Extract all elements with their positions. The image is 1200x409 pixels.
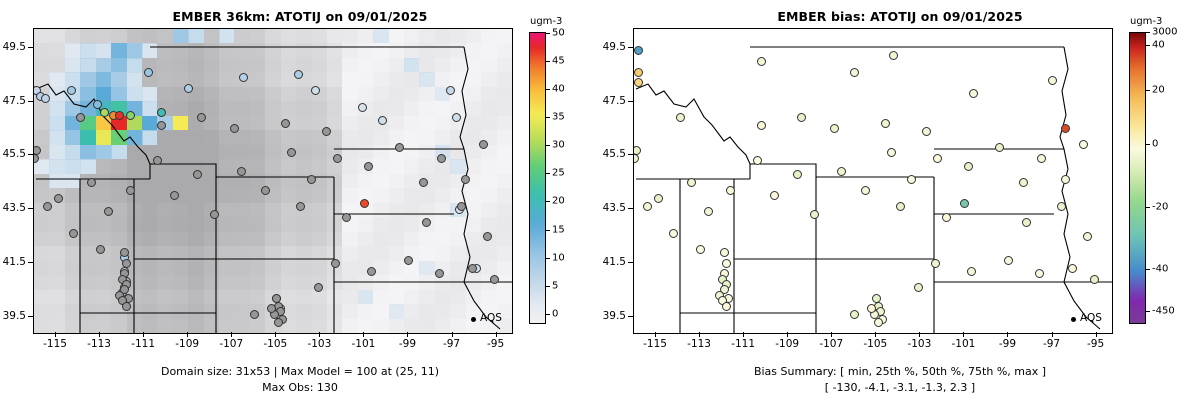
colorbar-tick-label: 0 [552,308,558,319]
observation-point [419,178,428,187]
colorbar-tick-label: 30 [552,140,565,151]
y-tick [628,154,633,155]
colorbar-tick [546,258,550,259]
observation-point [797,113,806,122]
colorbar-tick-label: 20 [552,196,565,207]
observation-point [654,194,663,203]
y-tick-label: 39.5 [3,310,26,322]
colorbar-units-model: ugm-3 [530,16,562,27]
x-tick-label: -97 [443,338,460,350]
observation-point [104,207,113,216]
colorbar-gradient [529,32,546,324]
x-tick-label: -95 [487,338,504,350]
observation-point [881,119,890,128]
observation-point [643,202,652,211]
y-tick [628,47,633,48]
x-tick [363,332,364,337]
colorbar-tick-label: 50 [552,28,565,39]
y-tick-label: 39.5 [603,310,626,322]
aqs-legend-marker-model [471,317,476,322]
observation-point [960,199,969,208]
observation-point [378,116,387,125]
observation-point [435,269,444,278]
x-tick [407,332,408,337]
observation-point [969,89,978,98]
x-tick-label: -103 [307,338,331,350]
caption-bias-line2: [ -130, -4.1, -3.1, -1.3, 2.3 ] [600,381,1200,394]
observation-point [757,121,766,130]
observation-point [157,108,166,117]
aqs-legend-label-model: AQS [480,312,502,324]
observation-point [907,175,916,184]
colorbar-tick-label: 20 [1152,85,1165,96]
x-tick [787,332,788,337]
colorbar-tick [546,89,550,90]
colorbar-tick [546,61,550,62]
x-tick [655,332,656,337]
observation-point [261,186,270,195]
observation-point [1061,124,1070,133]
colorbar-bias: ugm-3 300040200-20-40-450 [1124,28,1200,332]
colorbar-tick-label: -40 [1152,263,1168,274]
y-tick-label: 49.5 [3,41,26,53]
observation-point [483,232,492,241]
colorbar-tick [1146,269,1150,270]
observation-point [676,113,685,122]
observation-point [144,68,153,77]
observation-point [896,202,905,211]
observation-point [874,318,883,327]
observation-point [193,170,202,179]
panel-model: EMBER 36km: ATOTIJ on 09/01/2025 [0,0,600,409]
colorbar-tick [546,173,550,174]
y-tick-label: 47.5 [603,95,626,107]
observation-point [887,148,896,157]
y-tick-label: 41.5 [3,256,26,268]
observation-point [810,210,819,219]
colorbar-tick-label: 35 [552,112,565,123]
observation-point [704,207,713,216]
x-tick [919,332,920,337]
x-tick [1052,332,1053,337]
colorbar-tick-label: -450 [1152,305,1175,316]
observation-point [43,202,52,211]
observation-point [33,154,39,163]
observation-point [1090,275,1099,284]
y-tick-label: 43.5 [3,202,26,214]
panel-title-bias: EMBER bias: ATOTIJ on 09/01/2025 [600,9,1200,24]
x-tick [319,332,320,337]
observation-point [1048,76,1057,85]
observation-point [184,84,193,93]
observation-point [850,68,859,77]
y-tick-label: 49.5 [603,41,626,53]
observation-point [490,275,499,284]
x-tick-label: -95 [1087,338,1104,350]
x-tick-label: -111 [131,338,155,350]
colorbar-tick-label: 15 [552,224,565,235]
observation-point [331,259,340,268]
observation-point [1079,140,1088,149]
y-tick [28,101,33,102]
observation-point [314,283,323,292]
y-tick [628,101,633,102]
caption-bias-line1: Bias Summary: [ min, 25th %, 50th %, 75t… [600,365,1200,378]
x-tick-label: -107 [819,338,843,350]
observation-point [1083,232,1092,241]
observation-point [322,127,331,136]
observation-point [1019,178,1028,187]
observation-point [722,302,731,311]
map-plot-bias: AQS [633,28,1113,334]
observation-point [1037,154,1046,163]
colorbar-tick [546,33,550,34]
x-tick-label: -113 [87,338,111,350]
aqs-legend-marker-bias [1071,317,1076,322]
x-tick [452,332,453,337]
observation-point [837,167,846,176]
colorbar-units-bias: ugm-3 [1130,16,1162,27]
y-tick-label: 41.5 [603,256,626,268]
observation-point [250,310,259,319]
y-tick-label: 45.5 [3,148,26,160]
colorbar-tick [546,230,550,231]
colorbar-tick [1146,207,1150,208]
observation-point [933,154,942,163]
colorbar-tick [1146,90,1150,91]
observation-point [687,178,696,187]
colorbar-tick-label: 0 [1152,139,1158,150]
observation-point [437,154,446,163]
colorbar-tick-label: 10 [552,252,565,263]
y-tick [28,154,33,155]
observation-point [122,302,131,311]
caption-model-line1: Domain size: 31x53 | Max Model = 100 at … [0,365,600,378]
y-tick-label: 47.5 [3,95,26,107]
x-tick [496,332,497,337]
colorbar-tick [1146,45,1150,46]
observation-point [446,86,455,95]
observation-point [669,229,678,238]
colorbar-tick [1146,144,1150,145]
observation-point [100,108,109,117]
map-plot-model: AQS [33,28,513,334]
observation-point [468,264,477,273]
observation-point [239,73,248,82]
observation-point [157,121,166,130]
observation-point [1057,202,1066,211]
observation-point [358,103,367,112]
observation-point [967,267,976,276]
colorbar-tick [546,314,550,315]
y-tick [628,208,633,209]
observation-point [770,191,779,200]
colorbar-tick-label: 40 [1152,40,1165,51]
x-tick-label: -97 [1043,338,1060,350]
observation-point [230,124,239,133]
observation-point [634,68,643,77]
observation-point [1004,256,1013,265]
observation-point [93,100,102,109]
observation-point [404,256,413,265]
colorbar-tick [1146,32,1150,33]
observation-point [964,162,973,171]
observation-point [287,148,296,157]
observation-point [153,156,162,165]
colorbar-tick-label: -20 [1152,202,1168,213]
observation-point [861,186,870,195]
observation-point [634,46,643,55]
x-tick-label: -109 [175,338,199,350]
colorbar-tick-label: 3000 [1152,27,1177,38]
aqs-legend-label-bias: AQS [1080,312,1102,324]
x-tick-label: -115 [643,338,667,350]
observation-point [942,213,951,222]
observation-point [294,70,303,79]
observation-point [1061,175,1070,184]
y-tick [28,316,33,317]
observation-point [311,86,320,95]
caption-model-line2: Max Obs: 130 [0,381,600,394]
x-tick [699,332,700,337]
observation-point [461,175,470,184]
x-tick-label: -115 [43,338,67,350]
colorbar-gradient [1129,32,1146,324]
observation-point [281,119,290,128]
observation-point [753,156,762,165]
panel-bias: EMBER bias: ATOTIJ on 09/01/2025 [600,0,1200,409]
figure-root: EMBER 36km: ATOTIJ on 09/01/2025 [0,0,1200,409]
observation-point [1035,269,1044,278]
observation-point [889,51,898,60]
observation-point [850,310,859,319]
x-tick-label: -101 [951,338,975,350]
observation-point [1068,264,1077,273]
x-tick-label: -99 [399,338,416,350]
observation-point [931,259,940,268]
colorbar-tick [546,117,550,118]
observation-point [170,191,179,200]
observation-point [633,154,639,163]
colorbar-tick-label: 5 [552,280,558,291]
observation-point [126,111,135,120]
colorbar-tick-label: 25 [552,168,565,179]
observation-point [395,143,404,152]
colorbar-tick-label: 45 [552,56,565,67]
observation-point [41,94,50,103]
observation-point [210,210,219,219]
observation-point [367,267,376,276]
observation-point [922,127,931,136]
x-tick-label: -111 [731,338,755,350]
y-tick [28,47,33,48]
observation-point [360,199,369,208]
observation-point [115,111,124,120]
y-axis-bias: 49.547.545.543.541.539.5 [600,28,633,332]
observation-point [452,113,461,122]
x-axis-model: -115-113-111-109-107-105-103-101-99-97-9… [33,332,511,354]
observation-point [457,202,466,211]
x-tick-label: -107 [219,338,243,350]
y-tick-label: 43.5 [603,202,626,214]
observation-point [120,248,129,257]
observation-point [995,143,1004,152]
y-tick [628,316,633,317]
observation-point [342,213,351,222]
colorbar-tick [1146,311,1150,312]
observation-point [76,113,85,122]
observation-point [237,167,246,176]
y-axis-model: 49.547.545.543.541.539.5 [0,28,33,332]
observation-point [96,245,105,254]
observation-point [67,86,76,95]
x-tick-label: -101 [351,338,375,350]
observation-point [274,318,283,327]
x-tick-label: -105 [263,338,287,350]
x-tick [1096,332,1097,337]
observation-point [479,140,488,149]
observation-point [830,124,839,133]
x-tick [743,332,744,337]
observation-point [197,113,206,122]
observation-point [634,78,643,87]
observation-point [696,245,705,254]
y-tick [28,262,33,263]
colorbar-tick-label: 40 [552,84,565,95]
observation-point [69,229,78,238]
x-tick [143,332,144,337]
colorbar-tick [546,201,550,202]
x-tick-label: -109 [775,338,799,350]
y-tick [628,262,633,263]
observation-point [720,248,729,257]
observation-point [54,194,63,203]
x-tick [187,332,188,337]
x-tick [963,332,964,337]
observation-point [307,175,316,184]
x-tick [1007,332,1008,337]
panel-title-model: EMBER 36km: ATOTIJ on 09/01/2025 [0,9,600,24]
x-tick [55,332,56,337]
x-tick [275,332,276,337]
x-tick [831,332,832,337]
colorbar-model: ugm-3 50454035302520151050 [524,28,600,332]
observation-point [126,186,135,195]
x-tick-label: -105 [863,338,887,350]
x-tick-label: -103 [907,338,931,350]
y-tick [28,208,33,209]
x-tick-label: -113 [687,338,711,350]
x-tick [99,332,100,337]
x-tick [231,332,232,337]
observation-point [914,283,923,292]
observation-point [726,186,735,195]
observation-point [87,178,96,187]
observation-point [757,57,766,66]
observation-point [793,170,802,179]
observation-point [722,259,731,268]
y-tick-label: 45.5 [603,148,626,160]
x-tick [875,332,876,337]
observation-point [422,218,431,227]
observation-point [364,162,373,171]
observation-point [333,154,342,163]
colorbar-tick [546,286,550,287]
x-tick-label: -99 [999,338,1016,350]
x-axis-bias: -115-113-111-109-107-105-103-101-99-97-9… [633,332,1111,354]
observation-point [1022,218,1031,227]
colorbar-tick [546,145,550,146]
observation-point [122,259,131,268]
observation-point [296,202,305,211]
